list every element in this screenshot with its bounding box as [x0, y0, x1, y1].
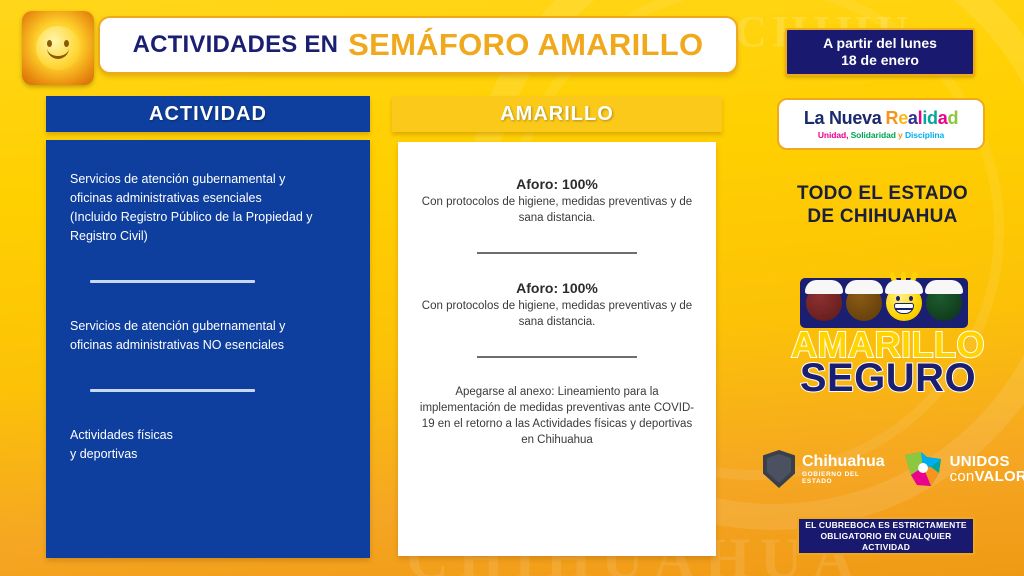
- brand-tagline: Unidad, Solidaridad y Disciplina: [818, 130, 944, 140]
- brand-tagline-part: Unidad,: [818, 130, 848, 140]
- green-light: [926, 285, 962, 321]
- list-item: Aforo: 100% Con protocolos de higiene, m…: [418, 280, 696, 330]
- government-logos: Chihuahua GOBIERNO DEL ESTADO UNIDOS con…: [763, 447, 1018, 491]
- traffic-light-icon: [800, 278, 968, 328]
- list-item: Servicios de atención gubernamental y of…: [70, 170, 346, 246]
- unidos-line2: conVALOR: [950, 469, 1024, 484]
- mask-banner-line2: OBLIGATORIO EN CUALQUIER ACTIVIDAD: [799, 531, 973, 553]
- yellow-light-lit: [886, 285, 922, 321]
- brand-letter: a: [908, 108, 918, 128]
- capacity-title: Aforo: 100%: [418, 280, 696, 296]
- brand-word-colored: Realidad: [885, 108, 958, 128]
- chihuahua-shield-icon: [763, 450, 795, 488]
- scope-line2: DE CHIHUAHUA: [785, 205, 980, 228]
- column-header-amarillo: AMARILLO: [392, 96, 722, 132]
- mask-mandate-banner: EL CUBREBOCA ES ESTRICTAMENTE OBLIGATORI…: [797, 517, 975, 555]
- capacity-title: Aforo: 100%: [418, 176, 696, 192]
- scope-line1: TODO EL ESTADO: [785, 182, 980, 205]
- chihuahua-subtitle: GOBIERNO DEL ESTADO: [802, 471, 885, 485]
- brand-wordmark: La NuevaRealidad: [804, 108, 958, 128]
- page-title: ACTIVIDADES EN SEMÁFORO AMARILLO: [98, 16, 738, 74]
- amarillo-rules-panel: Aforo: 100% Con protocolos de higiene, m…: [398, 142, 716, 556]
- column-header-amarillo-label: AMARILLO: [500, 103, 614, 126]
- scope-label: TODO EL ESTADO DE CHIHUAHUA: [785, 182, 980, 228]
- brand-tagline-part: y: [896, 130, 903, 140]
- unidos-line1: UNIDOS: [950, 455, 1024, 469]
- divider: [477, 356, 637, 358]
- chihuahua-map-icon: [901, 449, 945, 489]
- page-title-main: SEMÁFORO AMARILLO: [348, 27, 703, 63]
- date-notice-line2: 18 de enero: [841, 52, 919, 69]
- date-notice-line1: A partir del lunes: [823, 35, 937, 52]
- column-header-actividad-label: ACTIVIDAD: [149, 103, 267, 126]
- unidos-con: con: [950, 468, 975, 485]
- slogan-seguro: SEGURO: [788, 356, 988, 401]
- smiling-sun-icon: [22, 11, 94, 85]
- brand-tagline-part: Disciplina: [903, 130, 944, 140]
- brand-letter: e: [898, 108, 908, 128]
- annex-note: Apegarse al anexo: Lineamiento para la i…: [418, 384, 696, 448]
- date-notice-badge: A partir del lunes 18 de enero: [785, 28, 975, 76]
- unidos-con-valor-wordmark: UNIDOS conVALOR: [950, 455, 1024, 484]
- brand-letter: d: [927, 108, 938, 128]
- brand-tagline-part: Solidaridad: [848, 130, 895, 140]
- column-header-actividad: ACTIVIDAD: [46, 96, 370, 132]
- chihuahua-name: Chihuahua: [802, 454, 885, 470]
- orange-light: [846, 285, 882, 321]
- divider: [477, 252, 637, 254]
- activity-list-panel: Servicios de atención gubernamental y of…: [46, 140, 370, 558]
- mask-banner-line1: EL CUBREBOCA ES ESTRICTAMENTE: [805, 520, 967, 531]
- capacity-detail: Con protocolos de higiene, medidas preve…: [418, 298, 696, 330]
- brand-letter: d: [947, 108, 958, 128]
- la-nueva-realidad-logo: La NuevaRealidad Unidad, Solidaridad y D…: [777, 98, 985, 150]
- capacity-detail: Con protocolos de higiene, medidas preve…: [418, 194, 696, 226]
- brand-letter: a: [938, 108, 948, 128]
- unidos-valor: VALOR: [974, 468, 1024, 485]
- brand-letter: R: [885, 108, 898, 128]
- red-light: [806, 285, 842, 321]
- list-item: Actividades físicas y deportivas: [70, 426, 346, 464]
- divider: [90, 280, 255, 283]
- list-item: Servicios de atención gubernamental y of…: [70, 317, 346, 355]
- list-item: Aforo: 100% Con protocolos de higiene, m…: [418, 176, 696, 226]
- chihuahua-wordmark: Chihuahua GOBIERNO DEL ESTADO: [802, 454, 885, 485]
- divider: [90, 389, 255, 392]
- page-title-prefix: ACTIVIDADES EN: [133, 31, 339, 59]
- brand-word-plain: La Nueva: [804, 108, 882, 128]
